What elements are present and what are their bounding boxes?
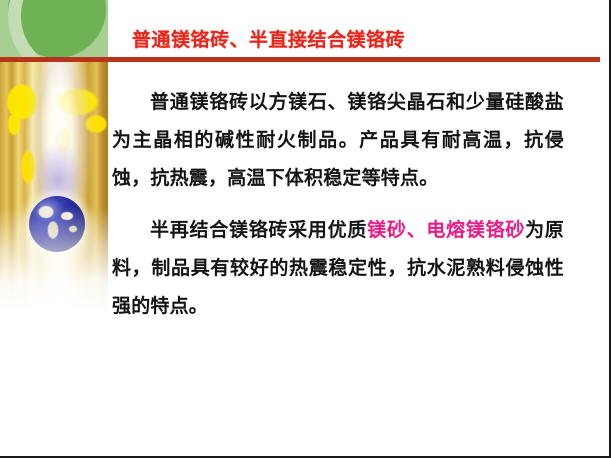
green-swoosh-inner xyxy=(8,0,108,58)
paragraph-1-text: 普通镁铬砖以方镁石、镁铬尖晶石和少量硅酸盐为主晶相的碱性耐火制品。产品具有耐高温… xyxy=(112,92,564,189)
green-corner-banner xyxy=(0,0,108,58)
paragraph-2-highlighted-text: 镁砂、电熔镁铬砂 xyxy=(367,220,525,241)
paragraph-1: 普通镁铬砖以方镁石、镁铬尖晶石和少量硅酸盐为主晶相的碱性耐火制品。产品具有耐高温… xyxy=(112,84,564,198)
slide-canvas: 普通镁铬砖、半直接结合镁铬砖 普通镁铬砖以方镁石、镁铬尖晶石和少量硅酸盐为主晶相… xyxy=(0,0,611,458)
paragraph-2: 半再结合镁铬砖采用优质镁砂、电熔镁铬砂为原料，制品具有较好的热震稳定性，抗水泥熟… xyxy=(112,212,564,326)
paragraph-2-lead-text: 半再结合镁铬砖采用优质 xyxy=(150,220,367,241)
bottom-fade xyxy=(0,62,108,312)
world-map-globe-graphic xyxy=(0,62,108,312)
page-title: 普通镁铬砖、半直接结合镁铬砖 xyxy=(132,25,405,52)
body-content: 普通镁铬砖以方镁石、镁铬尖晶石和少量硅酸盐为主晶相的碱性耐火制品。产品具有耐高温… xyxy=(112,84,564,326)
